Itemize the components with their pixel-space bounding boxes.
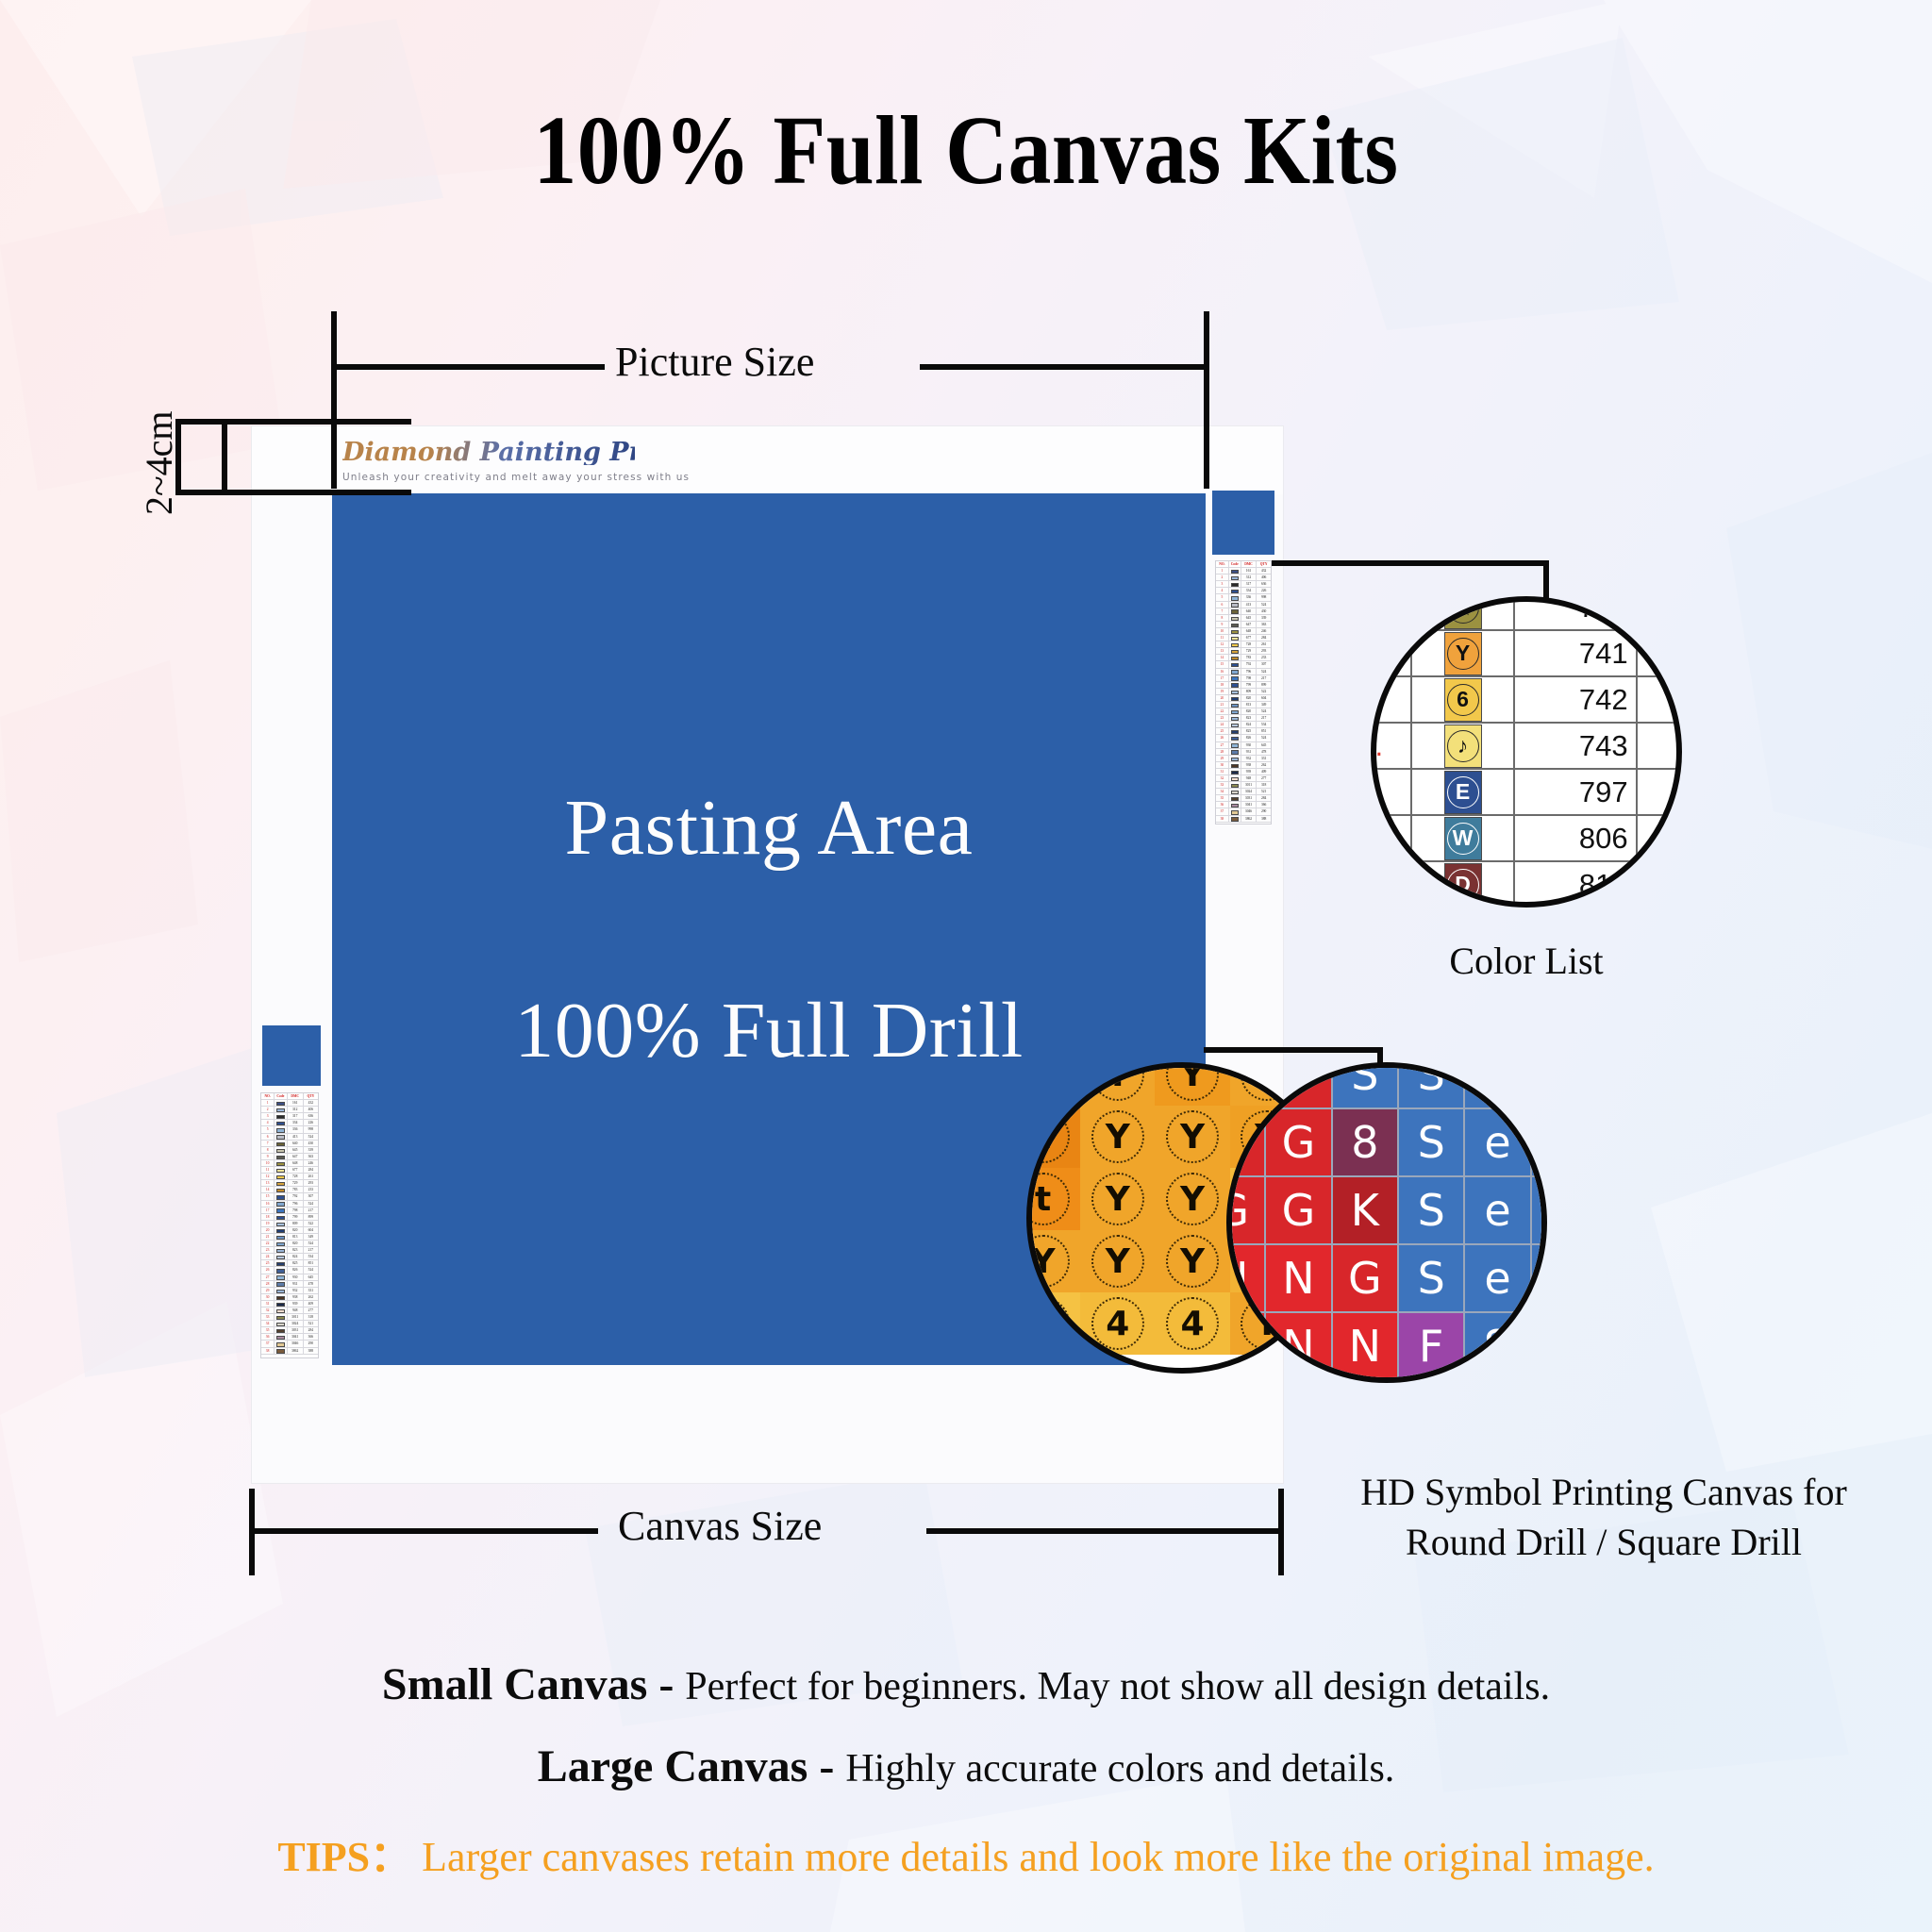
printed-color-list-row: 343024521 bbox=[261, 1321, 318, 1327]
printed-color-list-row: 12728261 bbox=[1216, 641, 1271, 648]
color-list-symbol: ♪ bbox=[1411, 723, 1514, 769]
color-list-table: ★735.Y741114.674224815.♪743192116.E79741… bbox=[1371, 596, 1682, 908]
large-canvas-label: Large Canvas bbox=[538, 1741, 808, 1791]
square-drill-magnifier: GGSSeeGG8SeeGGKSeeNNGSeeNNNFSS bbox=[1226, 1062, 1547, 1383]
printed-color-list-row: 31939409 bbox=[261, 1301, 318, 1307]
color-list-row: 15.♪7431921 bbox=[1371, 723, 1682, 769]
printed-color-list-row: 23823217 bbox=[261, 1247, 318, 1254]
hd-symbol-caption-line2: Round Drill / Square Drill bbox=[1283, 1518, 1924, 1568]
printed-color-list-row: 15792307 bbox=[1216, 661, 1271, 668]
printed-color-list-row: 383862388 bbox=[1216, 816, 1271, 823]
printed-color-list-row: 16796524 bbox=[1216, 669, 1271, 675]
infographic-canvas: 100% Full Canvas Kits Diamond Painting P… bbox=[0, 0, 1932, 1932]
printed-color-list-row: 27930645 bbox=[1216, 742, 1271, 749]
printed-color-list-row: 2312406 bbox=[1216, 575, 1271, 581]
brand-name: Diamond Painting Pro bbox=[342, 440, 635, 465]
printed-color-list-row: 343024521 bbox=[1216, 789, 1271, 795]
color-list-symbol: Y bbox=[1411, 630, 1514, 676]
color-list-index: 16. bbox=[1371, 769, 1411, 815]
large-canvas-dash: - bbox=[808, 1741, 845, 1791]
color-list-qty: 1921 bbox=[1637, 723, 1682, 769]
printed-color-list-row: 24824534 bbox=[261, 1254, 318, 1260]
round-drill-cell: Y bbox=[1155, 1106, 1229, 1168]
printed-color-list-row: 5336998 bbox=[1216, 594, 1271, 601]
printed-color-list-row: 24824534 bbox=[1216, 722, 1271, 728]
color-list-index bbox=[1371, 596, 1411, 630]
square-drill-cell: G bbox=[1226, 1062, 1264, 1108]
round-drill-cell: Y bbox=[1026, 1230, 1080, 1292]
color-list-dmc: 797 bbox=[1514, 769, 1636, 815]
color-list-dmc: 814 bbox=[1514, 861, 1636, 908]
printed-color-list-right: NO.CodeDMCQTY116143223124063317636433422… bbox=[1215, 560, 1272, 824]
printed-color-list-row: 32948277 bbox=[1216, 775, 1271, 782]
color-list-qty: 204 bbox=[1637, 815, 1682, 861]
square-drill-cell: e bbox=[1465, 1177, 1529, 1243]
color-list-index: 17. bbox=[1371, 815, 1411, 861]
color-list-dmc: 743 bbox=[1514, 723, 1636, 769]
round-drill-cell: 4 bbox=[1026, 1292, 1080, 1355]
printed-color-list-row: 10648246 bbox=[261, 1160, 318, 1167]
printed-color-list-row: 363041366 bbox=[1216, 802, 1271, 808]
picture-size-label: Picture Size bbox=[615, 338, 814, 386]
picture-size-tick-left bbox=[331, 311, 337, 489]
printed-color-list-row: 373046290 bbox=[261, 1341, 318, 1347]
round-drill-cell: Y bbox=[1080, 1062, 1155, 1106]
printed-color-list-row: 28931478 bbox=[1216, 749, 1271, 756]
printed-color-list-row: 28931478 bbox=[261, 1281, 318, 1288]
color-list-leader-horizontal bbox=[1272, 560, 1548, 566]
round-drill-cell: Y bbox=[1155, 1062, 1229, 1106]
printed-color-list-row: 4334226 bbox=[1216, 588, 1271, 594]
canvas-size-line-left bbox=[249, 1528, 598, 1534]
printed-color-list-header: NO.CodeDMCQTY bbox=[1216, 561, 1271, 568]
round-drill-cell: Y bbox=[1080, 1106, 1155, 1168]
printed-color-list-row: 333011318 bbox=[261, 1314, 318, 1321]
square-drill-cell: G bbox=[1266, 1062, 1330, 1108]
printed-color-list-row: 18799899 bbox=[1216, 682, 1271, 689]
color-list-symbol: ★ bbox=[1411, 596, 1514, 630]
printed-color-list-row: 2312406 bbox=[261, 1107, 318, 1113]
color-list-qty bbox=[1637, 596, 1682, 630]
margin-label: 2~4cm bbox=[137, 410, 181, 515]
canvas-size-label: Canvas Size bbox=[618, 1502, 822, 1550]
picture-size-line-right bbox=[920, 364, 1204, 370]
blue-swatch-chip-right bbox=[1212, 491, 1274, 555]
round-drill-cell: Y bbox=[1080, 1168, 1155, 1230]
square-drill-cell: N bbox=[1226, 1245, 1264, 1311]
tips-line: TIPS： Larger canvases retain more detail… bbox=[0, 1823, 1932, 1883]
color-list-row: .Y7411 bbox=[1371, 630, 1682, 676]
square-drill-cell: G bbox=[1226, 1177, 1264, 1243]
small-canvas-label: Small Canvas bbox=[382, 1659, 647, 1709]
printed-color-list-row: 26826524 bbox=[261, 1267, 318, 1274]
square-drill-cell: G bbox=[1266, 1109, 1330, 1175]
round-drill-cell: 4 bbox=[1080, 1292, 1155, 1355]
square-drill-cell: e bbox=[1532, 1062, 1547, 1108]
printed-color-list-row: 17798217 bbox=[261, 1207, 318, 1214]
square-drill-cell: N bbox=[1226, 1313, 1264, 1379]
square-drill-cell: G bbox=[1333, 1245, 1397, 1311]
color-list-row: 17.W806204 bbox=[1371, 815, 1682, 861]
printed-color-list-row: 8645339 bbox=[1216, 615, 1271, 622]
round-drill-cell: Y bbox=[1155, 1230, 1229, 1292]
printed-color-list-left: NO.CodeDMCQTY116143223124063317636433422… bbox=[260, 1092, 319, 1358]
printed-color-list-row: 17798217 bbox=[1216, 675, 1271, 682]
printed-color-list-row: 23823217 bbox=[1216, 715, 1271, 722]
square-drill-cell: S bbox=[1333, 1062, 1397, 1108]
printed-color-list-row: 333011318 bbox=[1216, 782, 1271, 789]
printed-color-list-row: 373046290 bbox=[1216, 808, 1271, 815]
printed-color-list-row: 6413524 bbox=[1216, 602, 1271, 608]
color-list-row: ★735 bbox=[1371, 596, 1682, 630]
printed-color-list-row: 22820524 bbox=[261, 1241, 318, 1247]
color-list-index: 18. bbox=[1371, 861, 1411, 908]
square-drill-cell: S bbox=[1399, 1109, 1463, 1175]
printed-color-list-row: 11677284 bbox=[261, 1167, 318, 1174]
printed-color-list-row: 11677284 bbox=[1216, 635, 1271, 641]
square-drill-cell: N bbox=[1266, 1245, 1330, 1311]
color-list-row: 16.E797414 bbox=[1371, 769, 1682, 815]
brand-tagline: Unleash your creativity and melt away yo… bbox=[342, 472, 635, 483]
printed-color-list-row: 19809522 bbox=[1216, 689, 1271, 695]
margin-line-top bbox=[175, 419, 411, 425]
large-canvas-line: Large Canvas - Highly accurate colors an… bbox=[0, 1740, 1932, 1792]
small-canvas-text: Perfect for beginners. May not show all … bbox=[685, 1665, 1550, 1708]
printed-color-list-row: 13729293 bbox=[1216, 648, 1271, 655]
square-drill-cell: F bbox=[1399, 1313, 1463, 1379]
color-list-symbol: W bbox=[1411, 815, 1514, 861]
printed-color-list-row: 20820604 bbox=[1216, 695, 1271, 702]
color-list-qty: 414 bbox=[1637, 769, 1682, 815]
printed-color-list-row: 7640430 bbox=[261, 1141, 318, 1147]
square-drill-cell: e bbox=[1532, 1177, 1547, 1243]
printed-color-list-row: 12728261 bbox=[261, 1174, 318, 1180]
printed-color-list-row: 14783233 bbox=[261, 1187, 318, 1193]
small-canvas-line: Small Canvas - Perfect for beginners. Ma… bbox=[0, 1658, 1932, 1710]
printed-color-list-row: 1161432 bbox=[261, 1100, 318, 1107]
printed-color-list-row: 15792307 bbox=[261, 1193, 318, 1200]
printed-color-list-row: 383862388 bbox=[261, 1348, 318, 1355]
square-drill-cell: S bbox=[1399, 1245, 1463, 1311]
square-drill-cell: S bbox=[1399, 1062, 1463, 1108]
square-drill-cell: e bbox=[1465, 1245, 1529, 1311]
square-drill-cell: e bbox=[1532, 1109, 1547, 1175]
square-drill-cell: N bbox=[1266, 1313, 1330, 1379]
color-list-index: . bbox=[1371, 630, 1411, 676]
square-drill-cell: e bbox=[1532, 1245, 1547, 1311]
printed-color-list-row: 21813349 bbox=[1216, 702, 1271, 708]
printed-color-list-row: 13729293 bbox=[261, 1180, 318, 1187]
printed-color-list-row: 19809522 bbox=[261, 1221, 318, 1227]
pasting-area-line1: Pasting Area bbox=[565, 782, 974, 874]
square-drill-cell: G bbox=[1226, 1109, 1264, 1175]
printed-color-list-row: 31939409 bbox=[1216, 769, 1271, 775]
color-list-row: 18.D81440 bbox=[1371, 861, 1682, 908]
color-list-dmc: 806 bbox=[1514, 815, 1636, 861]
printed-color-list-row: 363041366 bbox=[261, 1334, 318, 1341]
printed-color-list-row: 32948277 bbox=[261, 1307, 318, 1314]
printed-color-list-row: 29932331 bbox=[261, 1288, 318, 1294]
printed-color-list-row: 20820604 bbox=[261, 1227, 318, 1234]
color-list-qty: 40 bbox=[1637, 861, 1682, 908]
color-list-dmc: 742 bbox=[1514, 676, 1636, 723]
printed-color-list-row: 21813349 bbox=[261, 1234, 318, 1241]
color-list-qty: 1 bbox=[1637, 630, 1682, 676]
printed-color-list-row: 14783233 bbox=[1216, 655, 1271, 661]
printed-color-list-row: 30938262 bbox=[1216, 762, 1271, 769]
square-drill-cell: K bbox=[1333, 1177, 1397, 1243]
color-list-row: 14.6742248 bbox=[1371, 676, 1682, 723]
round-drill-cell: t bbox=[1026, 1168, 1080, 1230]
printed-color-list-row: 7640430 bbox=[1216, 608, 1271, 615]
canvas-size-line-right bbox=[926, 1528, 1284, 1534]
drill-leader-horizontal bbox=[1204, 1047, 1383, 1053]
brand-logo: Diamond Painting Pro Unleash your creati… bbox=[342, 440, 635, 494]
printed-color-list-row: 6413524 bbox=[261, 1134, 318, 1141]
round-drill-cell: Y bbox=[1080, 1230, 1155, 1292]
round-drill-cell: t bbox=[1026, 1106, 1080, 1168]
square-drill-cell: e bbox=[1465, 1062, 1529, 1108]
printed-color-list-row: 353031284 bbox=[1216, 795, 1271, 802]
printed-color-list-row: 27930645 bbox=[261, 1274, 318, 1281]
picture-size-line-left bbox=[331, 364, 605, 370]
hd-symbol-caption-line1: HD Symbol Printing Canvas for bbox=[1283, 1468, 1924, 1518]
printed-color-list-row: 29932331 bbox=[1216, 756, 1271, 762]
square-drill-cell: S bbox=[1399, 1177, 1463, 1243]
printed-color-list-row: 4334226 bbox=[261, 1120, 318, 1126]
printed-color-list-header: NO.CodeDMCQTY bbox=[261, 1093, 318, 1100]
printed-color-list-row: 3317636 bbox=[261, 1113, 318, 1120]
round-drill-cell: Y bbox=[1026, 1062, 1080, 1106]
printed-color-list-row: 9647363 bbox=[261, 1154, 318, 1160]
small-canvas-dash: - bbox=[647, 1659, 685, 1709]
color-list-index: 15. bbox=[1371, 723, 1411, 769]
square-drill-cell: e bbox=[1465, 1109, 1529, 1175]
square-drill-cell: 8 bbox=[1333, 1109, 1397, 1175]
printed-color-list-row: 3317636 bbox=[1216, 581, 1271, 588]
square-drill-grid: GGSSeeGG8SeeGGKSeeNNGSeeNNNFSS bbox=[1226, 1062, 1547, 1383]
pasting-area-line2: 100% Full Drill bbox=[514, 985, 1024, 1076]
hd-symbol-caption: HD Symbol Printing Canvas for Round Dril… bbox=[1283, 1468, 1924, 1568]
square-drill-cell: S bbox=[1465, 1313, 1529, 1379]
margin-line-bottom bbox=[175, 490, 411, 495]
printed-color-list-row: 9647363 bbox=[1216, 622, 1271, 628]
color-list-index: 14. bbox=[1371, 676, 1411, 723]
square-drill-cell: N bbox=[1333, 1313, 1397, 1379]
picture-size-tick-right bbox=[1204, 311, 1209, 489]
color-list-symbol: E bbox=[1411, 769, 1514, 815]
margin-tick-inner bbox=[222, 419, 227, 495]
large-canvas-text: Highly accurate colors and details. bbox=[845, 1747, 1394, 1790]
color-list-dmc: 741 bbox=[1514, 630, 1636, 676]
color-list-dmc: 735 bbox=[1514, 596, 1636, 630]
canvas-diagram: Diamond Painting Pro Unleash your creati… bbox=[0, 0, 1932, 1932]
printed-color-list-row: 26826524 bbox=[1216, 735, 1271, 741]
printed-color-list-row: 353031284 bbox=[261, 1327, 318, 1334]
tips-text: Larger canvases retain more details and … bbox=[411, 1834, 1655, 1880]
square-drill-cell: S bbox=[1532, 1313, 1547, 1379]
square-drill-cell: G bbox=[1266, 1177, 1330, 1243]
tips-label: TIPS： bbox=[277, 1834, 411, 1880]
color-list-magnifier: ★735.Y741114.674224815.♪743192116.E79741… bbox=[1371, 596, 1682, 908]
printed-color-list-row: 18799899 bbox=[261, 1214, 318, 1221]
color-list-caption: Color List bbox=[1371, 939, 1682, 983]
printed-color-list-row: 16796524 bbox=[261, 1201, 318, 1207]
printed-color-list-row: 30938262 bbox=[261, 1294, 318, 1301]
printed-color-list-row: 25825851 bbox=[1216, 728, 1271, 735]
round-drill-cell: 4 bbox=[1155, 1292, 1229, 1355]
printed-color-list-row: 25825851 bbox=[261, 1260, 318, 1267]
color-list-symbol: 6 bbox=[1411, 676, 1514, 723]
round-drill-cell: Y bbox=[1155, 1168, 1229, 1230]
printed-color-list-row: 1161432 bbox=[1216, 568, 1271, 575]
printed-color-list-row: 8645339 bbox=[261, 1147, 318, 1154]
printed-color-list-row: 10648246 bbox=[1216, 628, 1271, 635]
color-list-symbol: D bbox=[1411, 861, 1514, 908]
color-list-qty: 248 bbox=[1637, 676, 1682, 723]
blue-swatch-chip-left bbox=[262, 1025, 321, 1086]
printed-color-list-row: 5336998 bbox=[261, 1126, 318, 1133]
printed-color-list-row: 22820524 bbox=[1216, 708, 1271, 715]
